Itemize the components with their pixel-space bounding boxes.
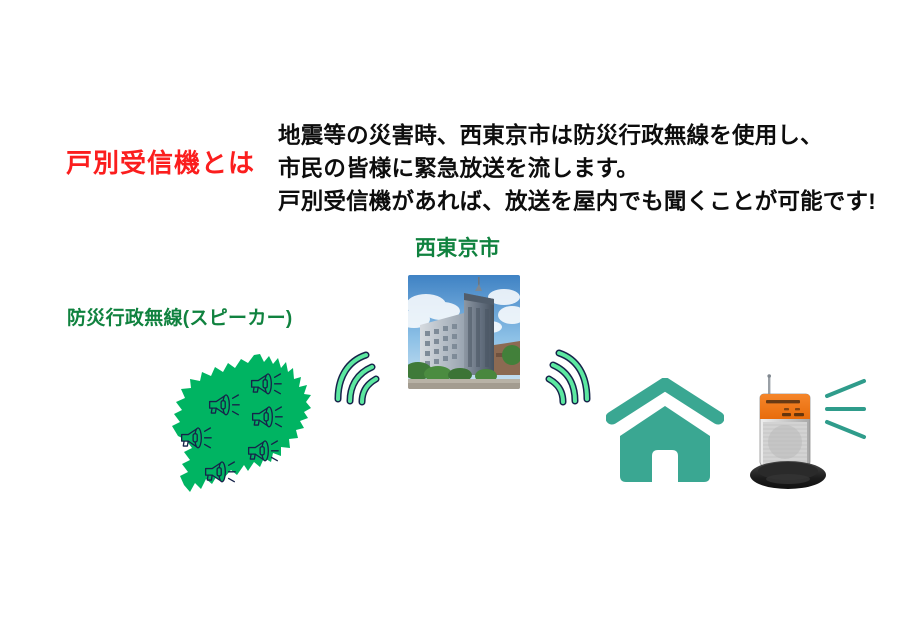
charging-cradle: [750, 461, 826, 489]
house-icon: [606, 378, 724, 495]
radio-waves-right-icon: [543, 345, 603, 418]
label-disaster-radio-speaker: 防災行政無線(スピーカー): [67, 303, 293, 330]
control-panel: [760, 394, 810, 419]
city-hall-photo: [408, 275, 520, 389]
page-title: 戸別受信機とは: [66, 143, 255, 180]
description-line-2: 市民の皆様に緊急放送を流します。: [278, 152, 876, 185]
speaker-grille: [763, 422, 807, 464]
map-shape: [172, 354, 311, 492]
label-city-name: 西東京市: [415, 232, 500, 262]
infographic-canvas: 戸別受信機とは 地震等の災害時、西東京市は防災行政無線を使用し、 市民の皆様に緊…: [0, 0, 900, 636]
radio-waves-left-icon: [322, 347, 382, 418]
sound-emission-lines-icon: [824, 378, 876, 445]
description-line-1: 地震等の災害時、西東京市は防災行政無線を使用し、: [278, 119, 876, 152]
description-line-3: 戸別受信機があれば、放送を屋内でも聞くことが可能です!: [278, 185, 876, 218]
city-map-with-speakers: [168, 352, 314, 506]
home-radio-receiver: [748, 372, 830, 495]
description-paragraph: 地震等の災害時、西東京市は防災行政無線を使用し、 市民の皆様に緊急放送を流します…: [278, 119, 876, 218]
